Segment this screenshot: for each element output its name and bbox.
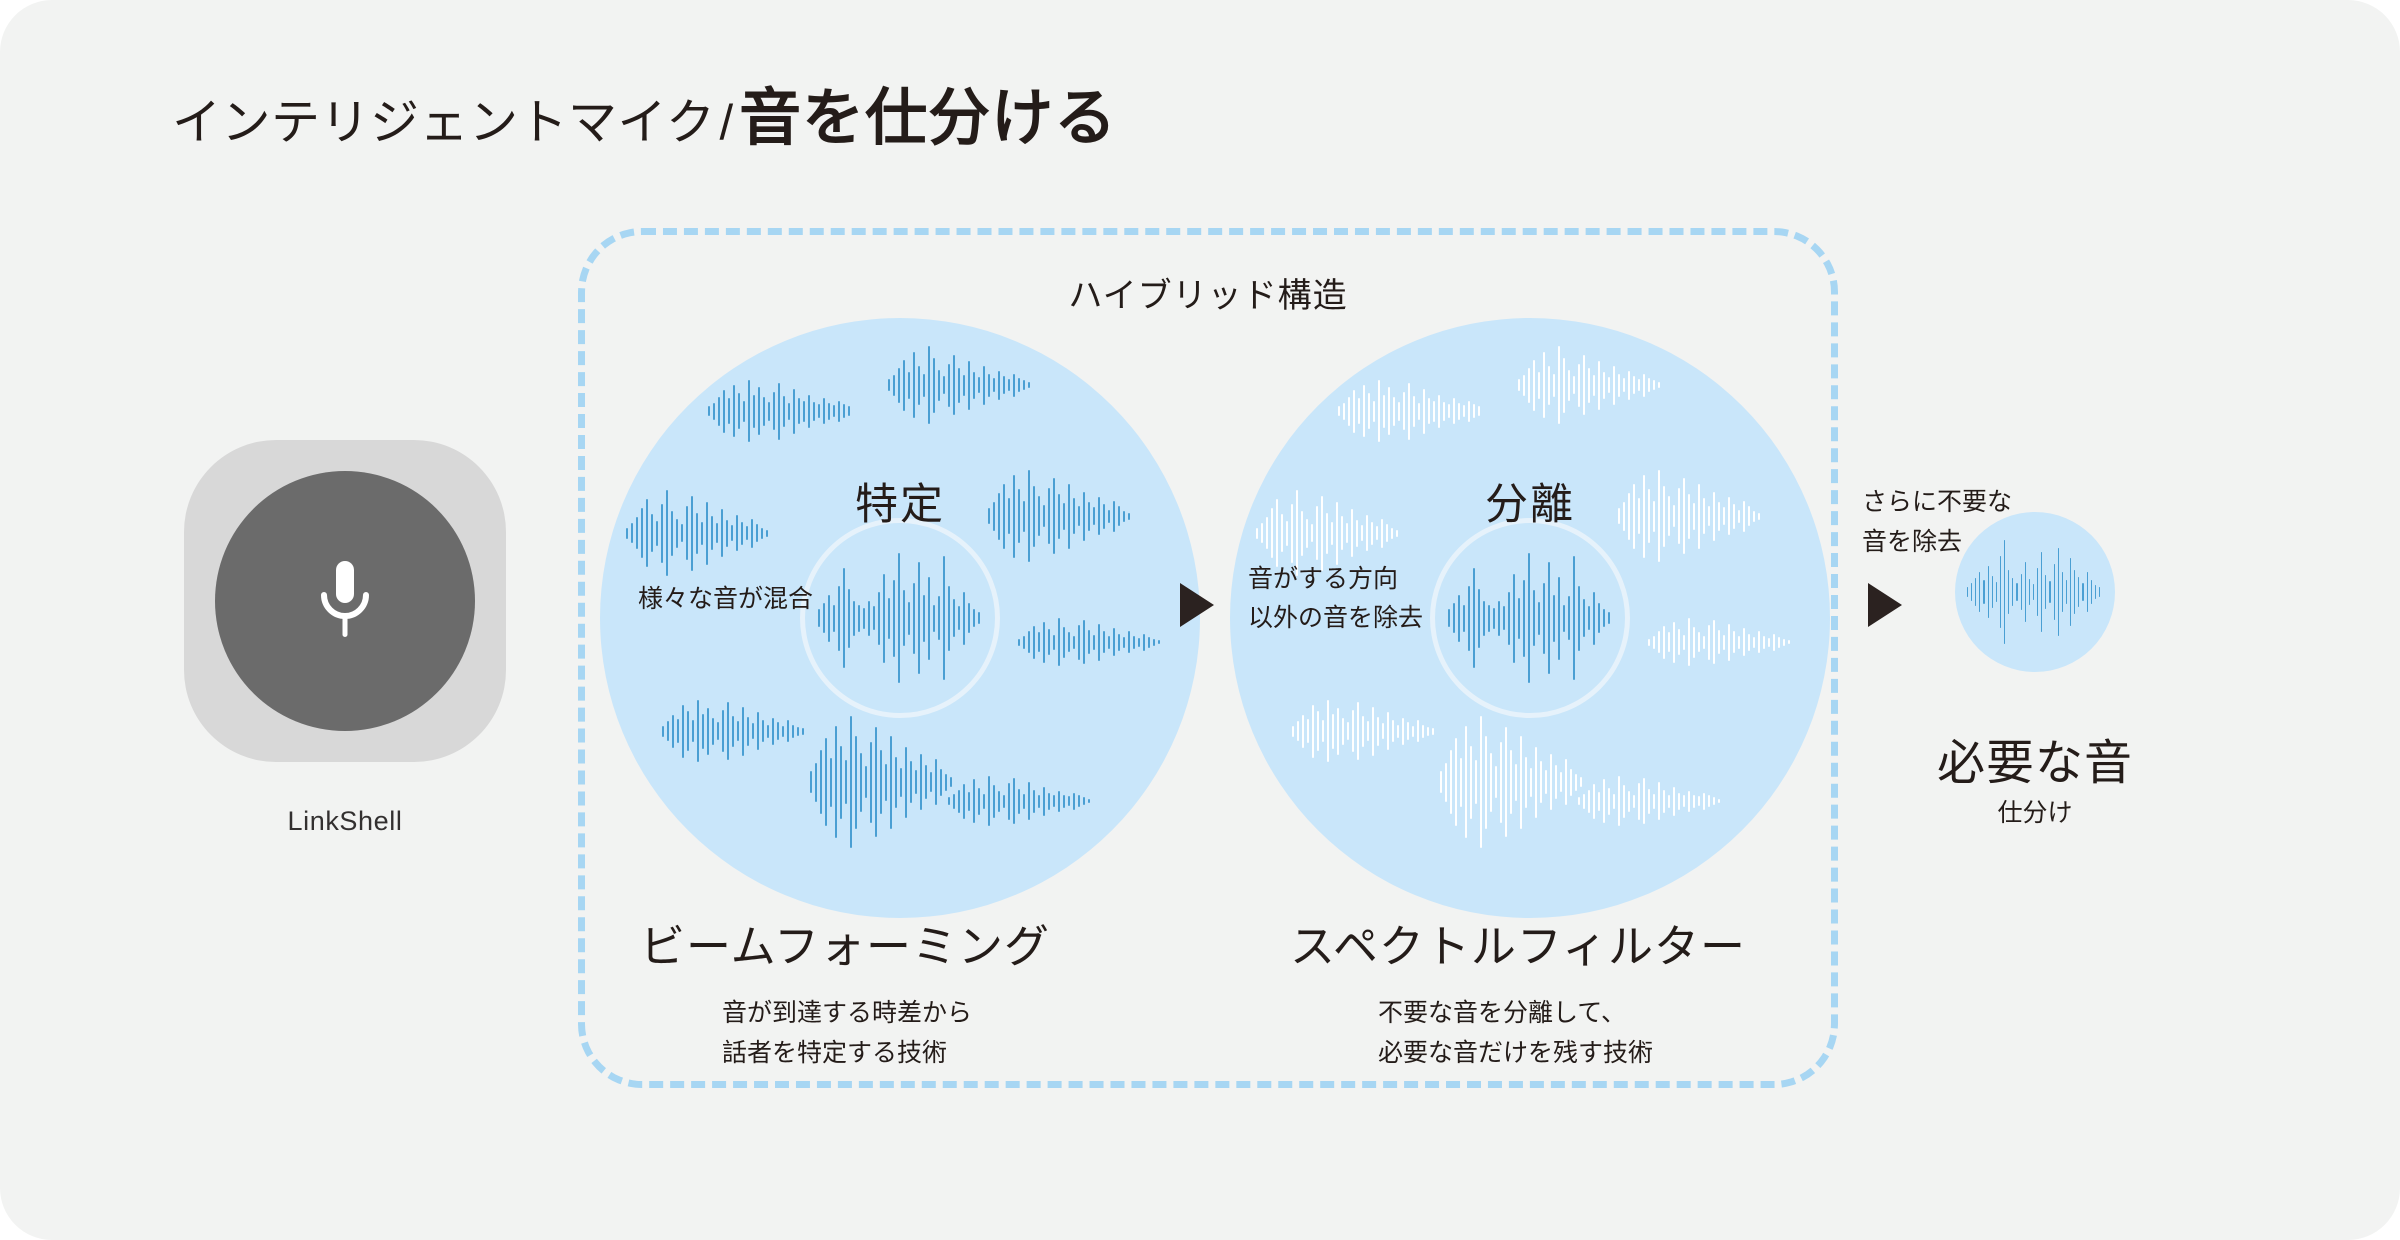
waveform-result	[1967, 540, 2103, 644]
stage-beamforming-caption-sub-line1: 音が到達する時差から	[722, 993, 972, 1033]
page-title: インテリジェントマイク/音を仕分ける	[172, 88, 1117, 150]
stage-beamforming-note-line: 様々な音が混合	[638, 580, 813, 619]
page-title-main: 音を仕分ける	[739, 84, 1117, 153]
stage-beamforming-caption-sub-line2: 話者を特定する技術	[722, 1033, 972, 1073]
device-disc	[215, 471, 475, 731]
device-block: LinkShell	[184, 440, 506, 837]
stage-beamforming-note: 様々な音が混合	[638, 580, 813, 619]
result-title: 必要な音	[1855, 723, 2215, 793]
stage-spectral-filter-caption-sub: 不要な音を分離して、 必要な音だけを残す技術	[1378, 993, 1653, 1073]
stage-beamforming-caption-title: ビームフォーミング	[640, 910, 1050, 975]
waveform-outer-beamforming-1	[888, 346, 1033, 424]
device-label: LinkShell	[184, 806, 506, 837]
stage-spectral-filter-circle-title: 分離	[1230, 470, 1830, 532]
slide-card: インテリジェントマイク/音を仕分ける LinkShell ハイブリッド構造 特定…	[0, 0, 2400, 1240]
stage-spectral-filter-note-line2: 以外の音を除去	[1248, 599, 1423, 638]
waveform-outer-beamforming-0	[708, 380, 853, 442]
waveform-outer-beamforming-6	[810, 716, 955, 848]
waveform-outer-spectral-filter-7	[1578, 776, 1723, 826]
result-note-line1: さらに不要な	[1862, 482, 2012, 522]
stage-spectral-filter-caption-sub-line1: 不要な音を分離して、	[1378, 993, 1653, 1033]
waveform-center-beamforming	[802, 553, 998, 683]
waveform-outer-beamforming-4	[1018, 618, 1163, 666]
stage-spectral-filter-note-line1: 音がする方向	[1248, 560, 1423, 599]
waveform-outer-spectral-filter-1	[1518, 346, 1663, 424]
arrow-stage1-to-stage2-icon	[1180, 583, 1214, 627]
hybrid-structure-label: ハイブリッド構造	[578, 268, 1838, 317]
result-sub: 仕分け	[1855, 793, 2215, 829]
stage-spectral-filter-caption-sub-line2: 必要な音だけを残す技術	[1378, 1033, 1653, 1073]
waveform-outer-spectral-filter-6	[1440, 716, 1585, 848]
stage-spectral-filter-note: 音がする方向 以外の音を除去	[1248, 560, 1423, 638]
waveform-center-spectral-filter	[1432, 553, 1628, 683]
device-tile	[184, 440, 506, 762]
waveform-outer-beamforming-7	[948, 776, 1093, 826]
page-title-separator: /	[716, 96, 740, 150]
microphone-icon	[314, 559, 376, 643]
result-disc	[1955, 512, 2115, 672]
waveform-outer-spectral-filter-5	[1292, 700, 1437, 762]
stage-spectral-filter-caption-title: スペクトルフィルター	[1290, 910, 1746, 975]
arrow-stage2-to-result-icon	[1868, 583, 1902, 627]
stage-beamforming-circle-title: 特定	[600, 470, 1200, 532]
waveform-outer-spectral-filter-0	[1338, 380, 1483, 442]
waveform-outer-spectral-filter-4	[1648, 618, 1793, 666]
page-title-lead: インテリジェントマイク	[172, 96, 716, 150]
stage-beamforming-caption-sub: 音が到達する時差から 話者を特定する技術	[722, 993, 972, 1073]
waveform-outer-beamforming-5	[662, 700, 807, 762]
